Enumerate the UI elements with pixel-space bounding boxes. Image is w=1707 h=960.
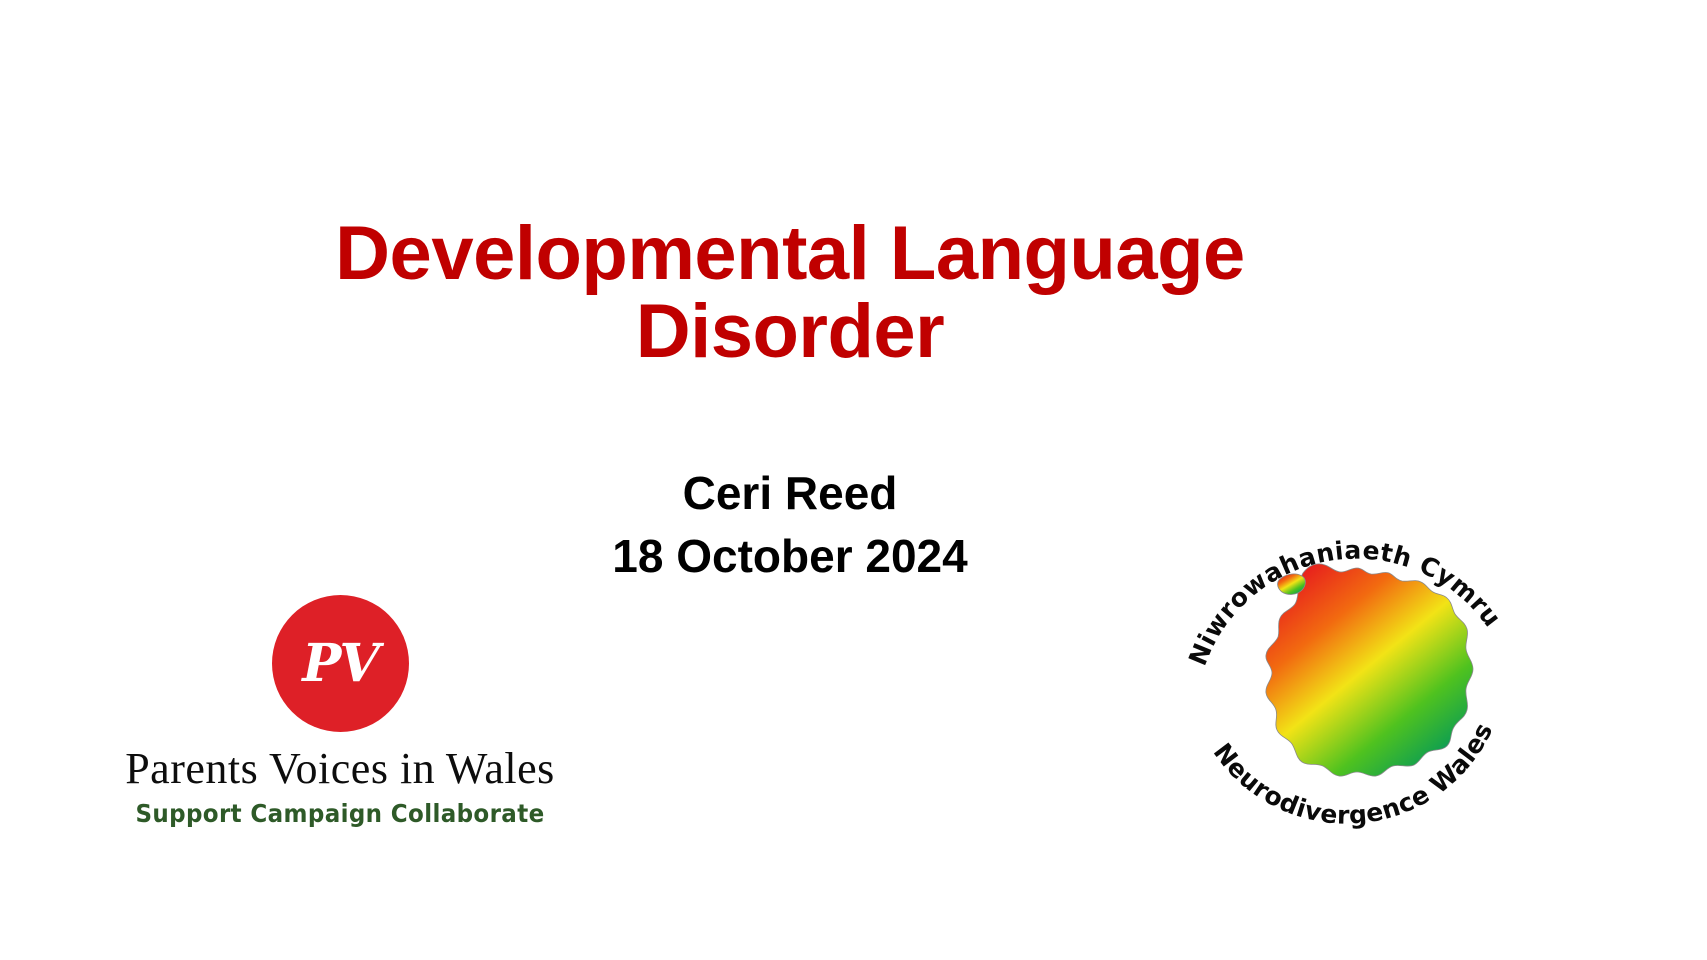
neurodivergence-wales-logo: Niwrowahaniaeth Cymru Neurodivergence Wa… [1175,510,1525,860]
presentation-date: 18 October 2024 [430,525,1150,588]
parents-voices-in-wales-logo: PV Parents Voices in Wales Support Campa… [100,595,580,845]
page-title: Developmental Language Disorder [290,215,1290,370]
presentation-slide: Developmental Language Disorder Ceri Ree… [0,0,1707,960]
presenter-name: Ceri Reed [430,462,1150,525]
title-block: Developmental Language Disorder [290,215,1290,370]
pvw-organisation-name: Parents Voices in Wales [100,746,580,792]
pvw-monogram-text: PV [272,638,409,690]
pvw-tagline: Support Campaign Collaborate [119,799,561,828]
wales-map-icon [1266,564,1473,776]
pvw-circle-badge-icon: PV [272,595,409,732]
subtitle-block: Ceri Reed 18 October 2024 [430,462,1150,589]
